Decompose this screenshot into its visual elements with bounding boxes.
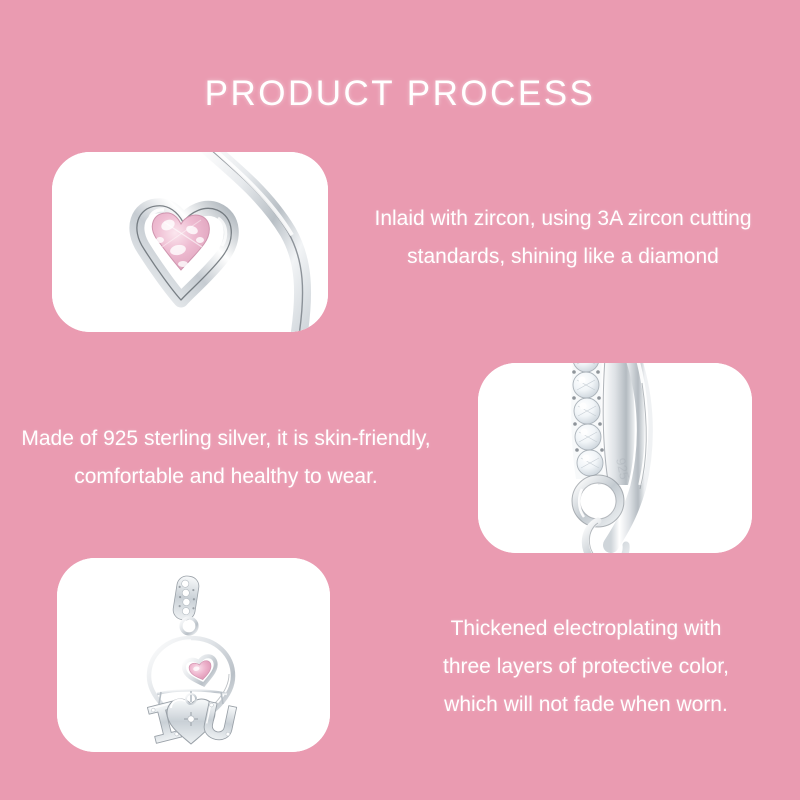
caption-line: which will not fade when worn.: [372, 686, 800, 724]
caption-line: standards, shining like a diamond: [343, 238, 783, 276]
pave-bail-jump-ring-closeup-photo: 925: [478, 363, 752, 553]
heart-pink-zircon-closeup-photo: [52, 152, 328, 332]
caption-line: Inlaid with zircon, using 3A zircon cutt…: [343, 200, 783, 238]
caption-line: Thickened electroplating with: [372, 610, 800, 648]
caption-line: three layers of protective color,: [372, 648, 800, 686]
feature-caption-electroplating: Thickened electroplating with three laye…: [372, 610, 800, 724]
caption-line: comfortable and healthy to wear.: [2, 458, 450, 496]
feature-caption-zircon-inlay: Inlaid with zircon, using 3A zircon cutt…: [343, 200, 783, 276]
feature-photo-card-sterling-silver: 925: [478, 363, 752, 553]
feature-photo-card-zircon-inlay: [52, 152, 328, 332]
product-process-poster: PRODUCT PROCESS: [0, 0, 800, 800]
i-love-you-heart-charm-pendant-photo: [57, 558, 330, 752]
feature-photo-card-electroplating: [57, 558, 330, 752]
page-title: PRODUCT PROCESS: [0, 76, 800, 111]
feature-caption-sterling-silver: Made of 925 sterling silver, it is skin-…: [2, 420, 450, 496]
caption-line: Made of 925 sterling silver, it is skin-…: [2, 420, 450, 458]
